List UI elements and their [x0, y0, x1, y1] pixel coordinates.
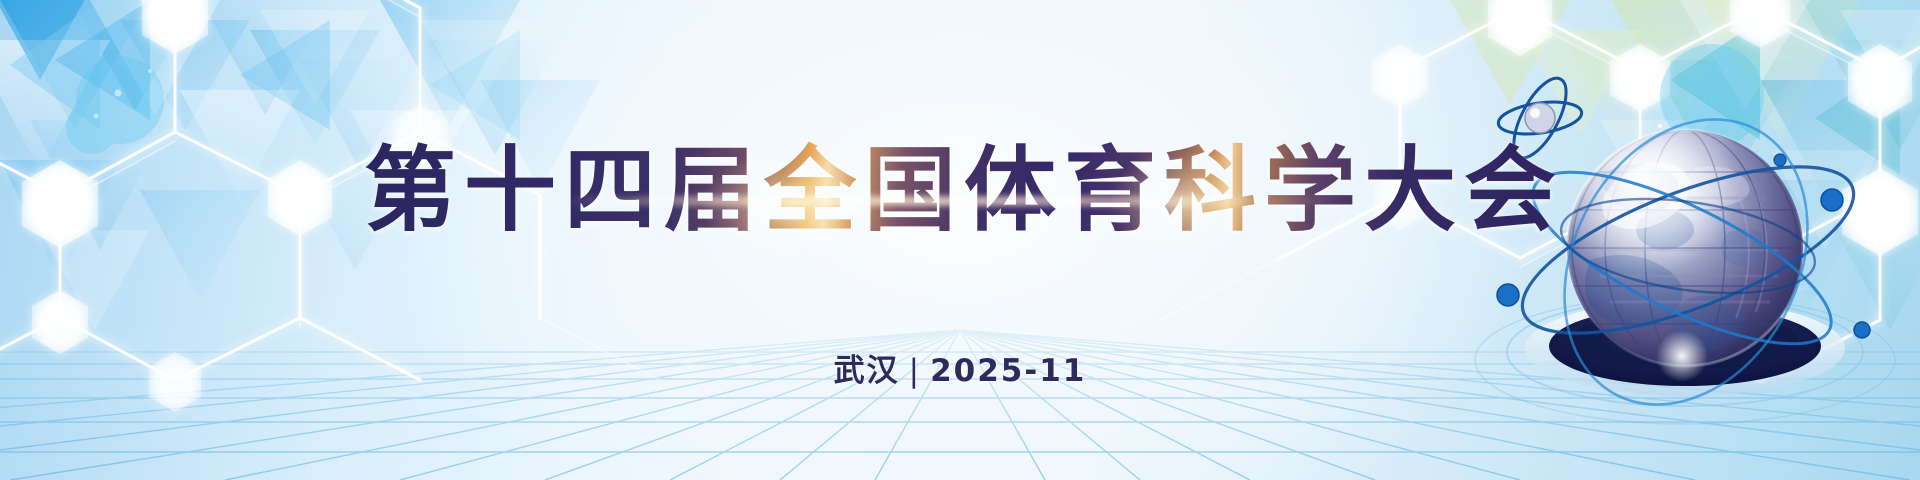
page-title: 第十四届全国体育科学大会: [356, 140, 1564, 241]
event-subtitle: 武汉|2025-11: [0, 345, 1920, 390]
title-block: 第十四届全国体育科学大会: [0, 140, 1920, 241]
event-date: 2025-11: [930, 353, 1086, 389]
conference-banner: 第十四届全国体育科学大会 武汉|2025-11: [0, 0, 1920, 480]
event-location: 武汉: [834, 353, 900, 389]
subtitle-separator: |: [900, 353, 930, 389]
